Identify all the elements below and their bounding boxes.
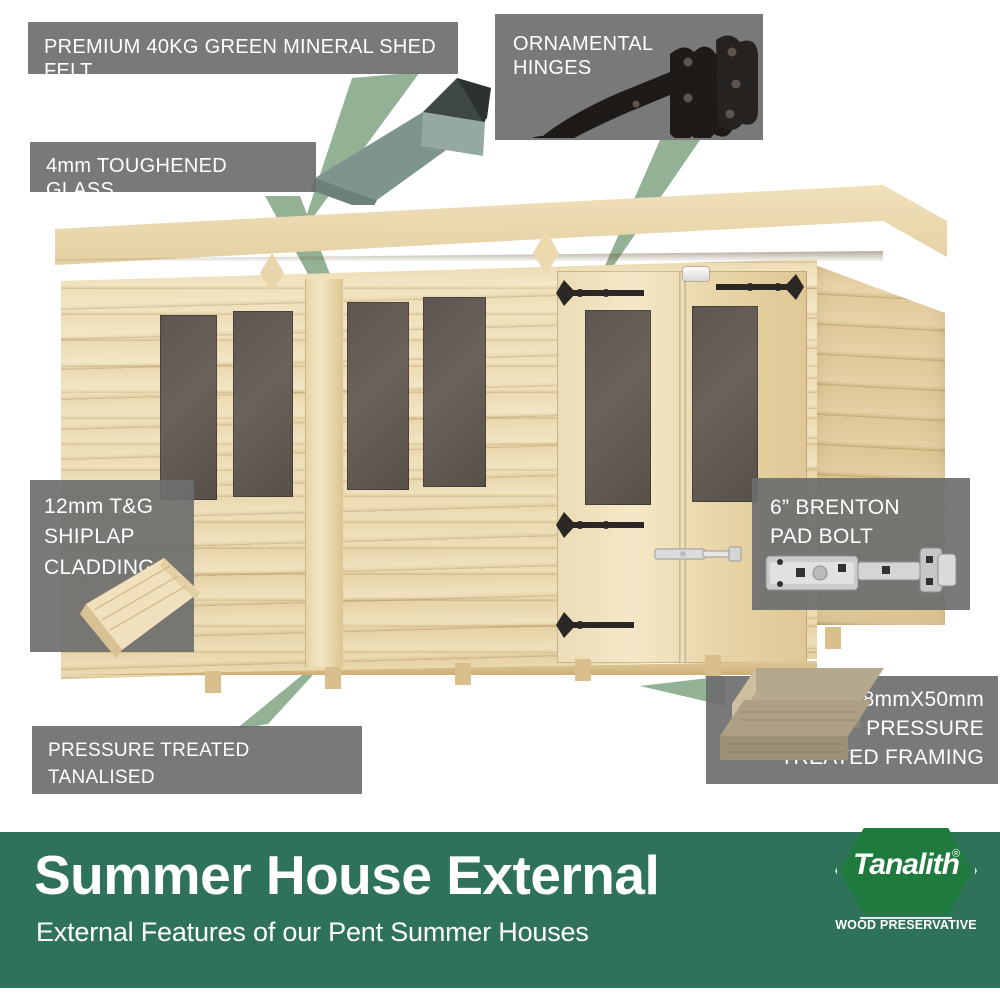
base-bearer (825, 627, 841, 649)
ornamental-hinge-icon (716, 274, 804, 300)
door-pad-bolt-icon (653, 543, 753, 565)
callout-glass: 4mm TOUGHENED GLASS (30, 142, 316, 192)
ornamental-hinge-icon (556, 512, 644, 538)
footer-subtitle: External Features of our Pent Summer Hou… (36, 917, 589, 948)
ornamental-hinge-icon (556, 612, 634, 638)
tanalith-logo: Tanalith ® WOOD PRESERVATIVE (826, 826, 986, 946)
callout-cladding-line2: SHIPLAP (44, 522, 180, 552)
base-bearer (455, 663, 471, 685)
pad-bolt-product-image (762, 536, 968, 604)
footer-banner: Summer House External External Features … (0, 832, 1000, 988)
infographic-canvas: PREMIUM 40KG GREEN MINERAL SHED FELT ORN… (0, 0, 1000, 1000)
window-pane-3 (347, 302, 409, 490)
callout-treated-line1: PRESSURE TREATED TANALISED (48, 738, 346, 791)
shiplap-board-image (72, 552, 204, 662)
shed-corner-post (305, 279, 343, 667)
ornamental-hinges-group (550, 270, 820, 670)
base-bearer (575, 659, 591, 681)
ornamental-hinge-product-image (520, 32, 760, 138)
tanalith-tagline: WOOD PRESERVATIVE (826, 918, 986, 932)
framing-timber-image (714, 652, 894, 780)
base-bearer (205, 671, 221, 693)
callout-padbolt-line1: 6” BRENTON (770, 494, 952, 523)
ornamental-hinge-icon (556, 280, 644, 306)
callout-treated: PRESSURE TREATED TANALISED TIMBER MATERI… (32, 726, 362, 794)
callout-glass-text: 4mm TOUGHENED GLASS (46, 154, 300, 203)
window-pane-4 (423, 297, 486, 487)
base-bearer (325, 667, 341, 689)
callout-cladding-line1: 12mm T&G (44, 492, 180, 522)
footer-title: Summer House External (34, 848, 659, 903)
tanalith-registered-mark: ® (952, 848, 960, 860)
window-pane-1 (160, 315, 217, 500)
tanalith-hexagon-icon: Tanalith ® (840, 828, 972, 914)
window-pane-2 (233, 311, 293, 497)
felt-roll-image (305, 60, 495, 205)
door-catch-plate (683, 267, 709, 281)
